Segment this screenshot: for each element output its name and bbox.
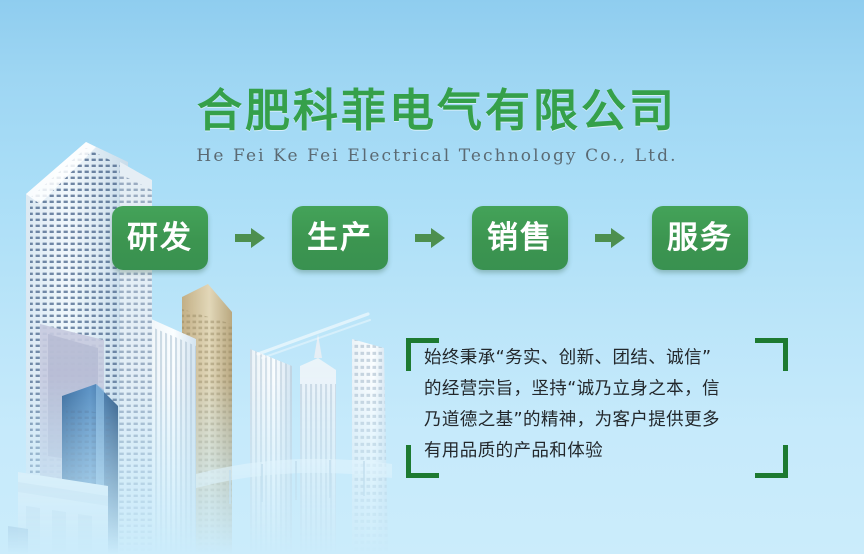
process-arrow-1 <box>208 227 292 249</box>
company-name-en: He Fei Ke Fei Electrical Technology Co.,… <box>10 146 864 166</box>
process-step-sales[interactable]: 销售 <box>472 206 568 270</box>
header-block: 合肥科菲电气有限公司 He Fei Ke Fei Electrical Tech… <box>0 88 864 166</box>
process-step-rd[interactable]: 研发 <box>112 206 208 270</box>
arrow-right-icon <box>234 227 266 249</box>
slogan-line: 有用品质的产品和体验 <box>424 436 772 467</box>
process-chain: 研发 生产 销售 服务 <box>112 206 748 270</box>
slogan-line: 的经营宗旨，坚持“诚乃立身之本，信 <box>424 374 772 405</box>
process-step-service[interactable]: 服务 <box>652 206 748 270</box>
process-step-label: 生产 <box>307 223 373 254</box>
slogan-line: 始终秉承“务实、创新、团结、诚信” <box>424 343 772 374</box>
process-arrow-2 <box>388 227 472 249</box>
company-name-cn: 合肥科菲电气有限公司 <box>10 88 864 133</box>
slogan-block: 始终秉承“务实、创新、团结、诚信” 的经营宗旨，坚持“诚乃立身之本，信 乃道德之… <box>406 338 788 478</box>
slogan-line: 乃道德之基”的精神，为客户提供更多 <box>424 405 772 436</box>
cityscape-illustration <box>0 134 420 554</box>
arrow-right-icon <box>594 227 626 249</box>
process-step-label: 销售 <box>487 223 553 254</box>
process-step-label: 服务 <box>667 223 733 254</box>
process-arrow-3 <box>568 227 652 249</box>
process-step-production[interactable]: 生产 <box>292 206 388 270</box>
slogan-text: 始终秉承“务实、创新、团结、诚信” 的经营宗旨，坚持“诚乃立身之本，信 乃道德之… <box>424 343 772 467</box>
arrow-right-icon <box>414 227 446 249</box>
process-step-label: 研发 <box>127 223 193 254</box>
company-banner: 合肥科菲电气有限公司 He Fei Ke Fei Electrical Tech… <box>0 0 864 554</box>
